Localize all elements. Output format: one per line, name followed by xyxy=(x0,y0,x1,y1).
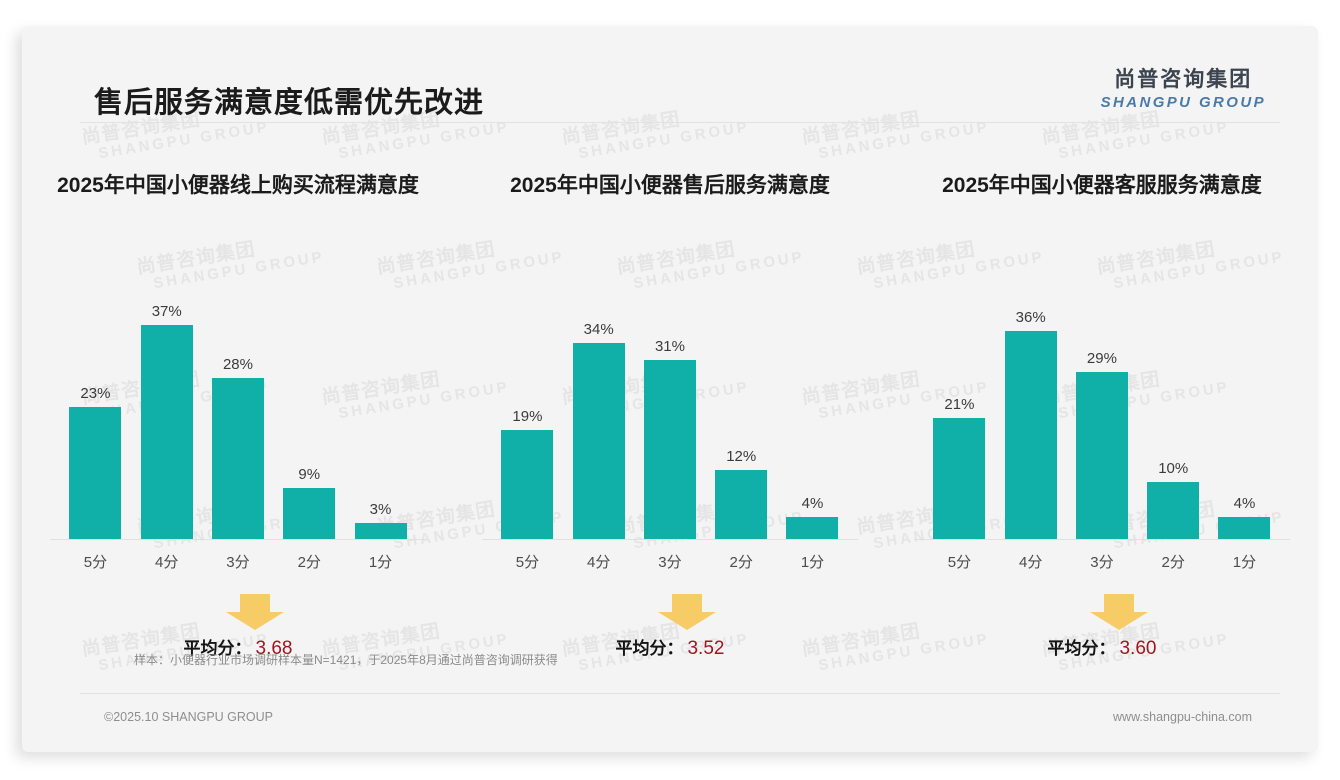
bar-slot[interactable]: 4% xyxy=(779,250,846,540)
x-axis-tick-label: 5分 xyxy=(62,551,129,572)
bar-value-label: 21% xyxy=(944,396,974,413)
bar-group: 19%34%31%12%4% xyxy=(494,250,846,540)
x-axis-tick-label: 1分 xyxy=(347,551,414,572)
bar-value-label: 28% xyxy=(223,356,253,373)
bar[interactable] xyxy=(644,360,696,540)
brand-logo-cn: 尚普咨询集团 xyxy=(1101,63,1266,93)
bar-value-label: 9% xyxy=(298,466,320,483)
x-axis-tick-label: 4分 xyxy=(133,551,200,572)
bar-slot[interactable]: 37% xyxy=(133,250,200,540)
bar[interactable] xyxy=(212,378,264,540)
bar[interactable] xyxy=(786,517,838,540)
bar-slot[interactable]: 12% xyxy=(708,250,775,540)
footer-copyright: ©2025.10 SHANGPU GROUP xyxy=(104,710,273,724)
x-axis-tick-label: 4分 xyxy=(997,551,1064,572)
bar[interactable] xyxy=(1218,517,1270,540)
bar-chart-plot: 21%36%29%10%4%5分4分3分2分1分 xyxy=(900,250,1304,540)
bar-value-label: 4% xyxy=(1234,495,1256,512)
x-axis-tick-label: 5分 xyxy=(494,551,561,572)
bar-slot[interactable]: 3% xyxy=(347,250,414,540)
down-arrow-icon xyxy=(656,592,718,637)
x-axis-tick-label: 2分 xyxy=(276,551,343,572)
average-score-label: 平均分： xyxy=(615,639,683,658)
bar-group: 21%36%29%10%4% xyxy=(926,250,1278,540)
brand-logo: 尚普咨询集团 SHANGPU GROUP xyxy=(1101,63,1266,111)
chart-title: 2025年中国小便器客服服务满意度 xyxy=(900,146,1304,206)
bar-group: 23%37%28%9%3% xyxy=(62,250,414,540)
footer-divider xyxy=(80,693,1280,694)
sample-footnote: 样本：小便器行业市场调研样本量N=1421，于2025年8月通过尚普咨询调研获得 xyxy=(134,651,558,668)
x-axis-labels: 5分4分3分2分1分 xyxy=(62,540,414,572)
bar-slot[interactable]: 29% xyxy=(1069,250,1136,540)
bar-value-label: 19% xyxy=(512,408,542,425)
charts-row: 2025年中国小便器线上购买流程满意度23%37%28%9%3%5分4分3分2分… xyxy=(22,146,1318,668)
bar-value-label: 37% xyxy=(152,303,182,320)
down-arrow-icon xyxy=(1088,592,1150,637)
bar-value-label: 34% xyxy=(584,321,614,338)
bar[interactable] xyxy=(141,325,193,540)
bar-slot[interactable]: 9% xyxy=(276,250,343,540)
brand-logo-en: SHANGPU GROUP xyxy=(1101,94,1266,111)
average-score-text: 平均分：3.60 xyxy=(900,634,1304,660)
average-score-value: 3.52 xyxy=(687,638,724,659)
bar[interactable] xyxy=(573,343,625,540)
bar-slot[interactable]: 31% xyxy=(637,250,704,540)
x-axis-tick-label: 2分 xyxy=(708,551,775,572)
bar-value-label: 36% xyxy=(1016,309,1046,326)
header-divider xyxy=(80,122,1280,123)
bar-value-label: 10% xyxy=(1158,460,1188,477)
bar[interactable] xyxy=(1147,482,1199,540)
slide-header: 售后服务满意度低需优先改进 尚普咨询集团 SHANGPU GROUP xyxy=(22,26,1318,122)
bar-slot[interactable]: 21% xyxy=(926,250,993,540)
bar-chart-plot: 19%34%31%12%4%5分4分3分2分1分 xyxy=(468,250,872,540)
footer-website[interactable]: www.shangpu-china.com xyxy=(1113,710,1252,724)
bar-chart-plot: 23%37%28%9%3%5分4分3分2分1分 xyxy=(36,250,440,540)
bar-value-label: 29% xyxy=(1087,350,1117,367)
bar-slot[interactable]: 19% xyxy=(494,250,561,540)
bar-slot[interactable]: 36% xyxy=(997,250,1064,540)
bar[interactable] xyxy=(69,407,121,540)
bar-value-label: 4% xyxy=(802,495,824,512)
bar[interactable] xyxy=(501,430,553,540)
bar-slot[interactable]: 10% xyxy=(1140,250,1207,540)
x-axis-tick-label: 1分 xyxy=(1211,551,1278,572)
x-axis-tick-label: 1分 xyxy=(779,551,846,572)
down-arrow-icon xyxy=(224,592,286,637)
chart-panel: 2025年中国小便器售后服务满意度19%34%31%12%4%5分4分3分2分1… xyxy=(454,146,886,668)
average-annotation: 平均分：3.60 xyxy=(900,592,1304,668)
chart-title: 2025年中国小便器售后服务满意度 xyxy=(468,146,872,206)
bar[interactable] xyxy=(933,418,985,540)
bar[interactable] xyxy=(1005,331,1057,540)
chart-panel: 2025年中国小便器客服服务满意度21%36%29%10%4%5分4分3分2分1… xyxy=(886,146,1318,668)
bar[interactable] xyxy=(283,488,335,540)
bar-value-label: 3% xyxy=(370,501,392,518)
x-axis-labels: 5分4分3分2分1分 xyxy=(494,540,846,572)
x-axis-tick-label: 4分 xyxy=(565,551,632,572)
bar-slot[interactable]: 23% xyxy=(62,250,129,540)
bar[interactable] xyxy=(1076,372,1128,540)
x-axis-tick-label: 3分 xyxy=(205,551,272,572)
average-score-value: 3.60 xyxy=(1119,638,1156,659)
bar-slot[interactable]: 28% xyxy=(205,250,272,540)
page-title: 售后服务满意度低需优先改进 xyxy=(94,79,484,121)
x-axis-tick-label: 3分 xyxy=(1069,551,1136,572)
bar[interactable] xyxy=(355,523,407,540)
x-axis-tick-label: 3分 xyxy=(637,551,704,572)
x-axis-labels: 5分4分3分2分1分 xyxy=(926,540,1278,572)
slide: 尚普咨询集团SHANGPU GROUP尚普咨询集团SHANGPU GROUP尚普… xyxy=(22,26,1318,752)
x-axis-tick-label: 2分 xyxy=(1140,551,1207,572)
x-axis-tick-label: 5分 xyxy=(926,551,993,572)
bar-slot[interactable]: 4% xyxy=(1211,250,1278,540)
chart-title: 2025年中国小便器线上购买流程满意度 xyxy=(36,146,440,206)
bar[interactable] xyxy=(715,470,767,540)
bar-slot[interactable]: 34% xyxy=(565,250,632,540)
chart-panel: 2025年中国小便器线上购买流程满意度23%37%28%9%3%5分4分3分2分… xyxy=(22,146,454,668)
bar-value-label: 12% xyxy=(726,448,756,465)
bar-value-label: 23% xyxy=(80,385,110,402)
bar-value-label: 31% xyxy=(655,338,685,355)
average-score-label: 平均分： xyxy=(1047,639,1115,658)
